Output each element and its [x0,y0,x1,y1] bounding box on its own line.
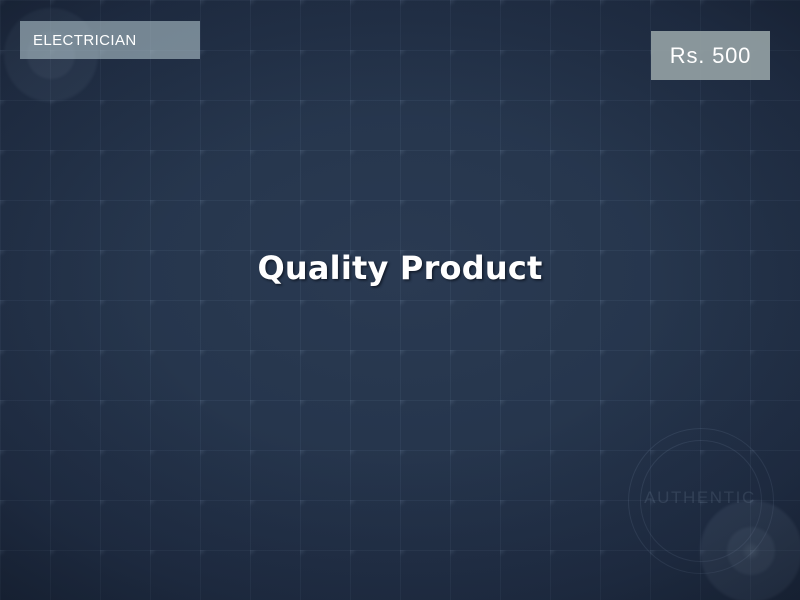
price-badge[interactable]: Rs. 500 [651,31,770,80]
category-badge-label: ELECTRICIAN [33,32,137,49]
product-title: Quality Product [0,249,800,287]
product-card: AUTHENTIC ELECTRICIAN Rs. 500 Quality Pr… [0,0,800,600]
category-badge[interactable]: ELECTRICIAN [20,21,200,59]
background-vignette [0,0,800,600]
price-badge-label: Rs. 500 [670,43,751,69]
